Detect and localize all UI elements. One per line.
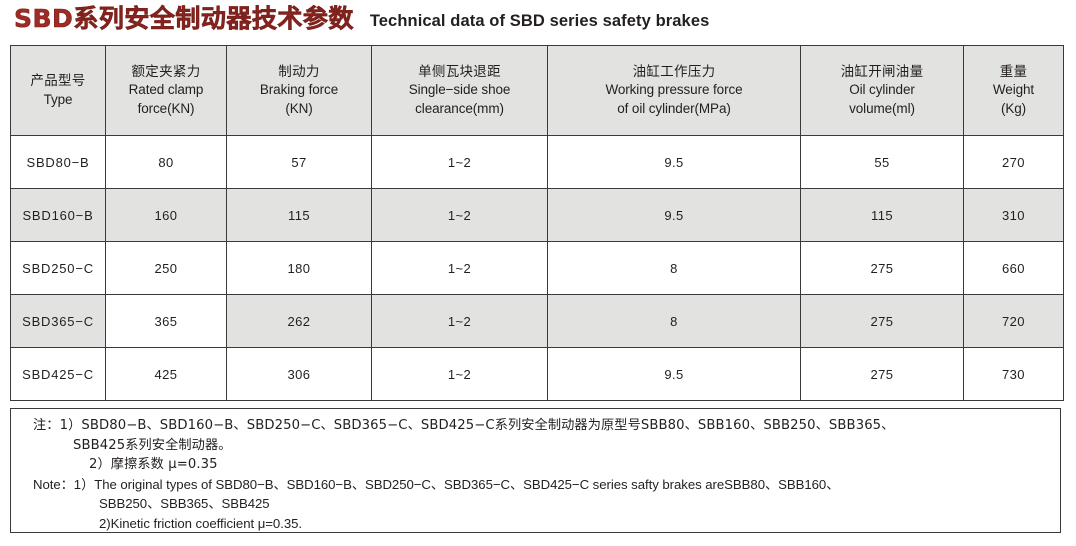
title-chinese: SBD系列安全制动器技术参数 [14,6,354,31]
table-row: SBD80−B80571~29.555270 [11,136,1064,189]
note-cn-line-2: SBB425系列安全制动器。 [11,436,1060,456]
header-cn: 产品型号 [15,72,101,91]
column-header-rated-clamp-force: 额定夹紧力 Rated clamp force(KN) [106,46,227,136]
note-cn-line-3: 2）摩擦系数 μ=0.35 [11,455,1060,475]
header-en: Single−side shoe [376,81,543,100]
cell-weight: 310 [964,189,1064,242]
header-en: volume(ml) [805,100,959,119]
cell-shoe-clearance: 1~2 [372,295,548,348]
header-cn: 重量 [968,63,1059,82]
cell-weight: 730 [964,348,1064,401]
specifications-table: 产品型号 Type 额定夹紧力 Rated clamp force(KN) 制动… [10,45,1064,401]
cell-braking-force: 180 [227,242,372,295]
cell-shoe-clearance: 1~2 [372,136,548,189]
cell-oil-cylinder-volume: 275 [801,295,964,348]
column-header-shoe-clearance: 单侧瓦块退距 Single−side shoe clearance(mm) [372,46,548,136]
cell-working-pressure: 8 [548,242,801,295]
cell-braking-force: 262 [227,295,372,348]
cell-working-pressure: 9.5 [548,136,801,189]
header-cn: 油缸工作压力 [552,63,796,82]
header-en: Rated clamp [110,81,222,100]
header-cn: 油缸开闸油量 [805,63,959,82]
header-en: force(KN) [110,100,222,119]
table-row: SBD160−B1601151~29.5115310 [11,189,1064,242]
column-header-oil-cylinder-volume: 油缸开闸油量 Oil cylinder volume(ml) [801,46,964,136]
table-row: SBD250−C2501801~28275660 [11,242,1064,295]
cell-oil-cylinder-volume: 275 [801,242,964,295]
notes-box: 注：1）SBD80−B、SBD160−B、SBD250−C、SBD365−C、S… [10,408,1061,533]
table-body: SBD80−B80571~29.555270SBD160−B1601151~29… [11,136,1064,401]
cell-working-pressure: 9.5 [548,189,801,242]
technical-data-sheet: SBD系列安全制动器技术参数 Technical data of SBD ser… [0,0,1076,546]
cell-model: SBD80−B [11,136,106,189]
cell-braking-force: 57 [227,136,372,189]
cell-weight: 660 [964,242,1064,295]
column-header-type: 产品型号 Type [11,46,106,136]
header-en: Weight [968,81,1059,100]
header-en: (KN) [231,100,367,119]
header-en: Working pressure force [552,81,796,100]
header-en: clearance(mm) [376,100,543,119]
column-header-weight: 重量 Weight (Kg) [964,46,1064,136]
cell-braking-force: 115 [227,189,372,242]
header-cn: 单侧瓦块退距 [376,63,543,82]
header-en: Braking force [231,81,367,100]
cell-model: SBD365−C [11,295,106,348]
column-header-braking-force: 制动力 Braking force (KN) [227,46,372,136]
page-title: SBD系列安全制动器技术参数 Technical data of SBD ser… [14,6,1064,40]
cell-rated-clamp-force: 80 [106,136,227,189]
cell-rated-clamp-force: 250 [106,242,227,295]
cell-braking-force: 306 [227,348,372,401]
header-cn: 额定夹紧力 [110,63,222,82]
cell-oil-cylinder-volume: 55 [801,136,964,189]
cell-model: SBD160−B [11,189,106,242]
table-row: SBD365−C3652621~28275720 [11,295,1064,348]
note-en-line-3: 2)Kinetic friction coefficient μ=0.35. [11,514,1060,534]
header-en: of oil cylinder(MPa) [552,100,796,119]
cell-rated-clamp-force: 425 [106,348,227,401]
header-cn: 制动力 [231,63,367,82]
cell-shoe-clearance: 1~2 [372,242,548,295]
title-english: Technical data of SBD series safety brak… [370,13,710,30]
cell-oil-cylinder-volume: 115 [801,189,964,242]
cell-shoe-clearance: 1~2 [372,348,548,401]
header-row: 产品型号 Type 额定夹紧力 Rated clamp force(KN) 制动… [11,46,1064,136]
cell-working-pressure: 9.5 [548,348,801,401]
note-en-line-1: Note：1）The original types of SBD80−B、SBD… [11,475,1060,495]
cell-shoe-clearance: 1~2 [372,189,548,242]
column-header-working-pressure: 油缸工作压力 Working pressure force of oil cyl… [548,46,801,136]
table-row: SBD425−C4253061~29.5275730 [11,348,1064,401]
note-cn-line-1: 注：1）SBD80−B、SBD160−B、SBD250−C、SBD365−C、S… [11,416,1060,436]
table-header: 产品型号 Type 额定夹紧力 Rated clamp force(KN) 制动… [11,46,1064,136]
cell-rated-clamp-force: 160 [106,189,227,242]
cell-model: SBD425−C [11,348,106,401]
cell-weight: 270 [964,136,1064,189]
header-en: (Kg) [968,100,1059,119]
cell-rated-clamp-force: 365 [106,295,227,348]
cell-model: SBD250−C [11,242,106,295]
cell-weight: 720 [964,295,1064,348]
cell-oil-cylinder-volume: 275 [801,348,964,401]
header-en: Type [15,91,101,110]
header-en: Oil cylinder [805,81,959,100]
cell-working-pressure: 8 [548,295,801,348]
note-en-line-2: SBB250、SBB365、SBB425 [11,494,1060,514]
